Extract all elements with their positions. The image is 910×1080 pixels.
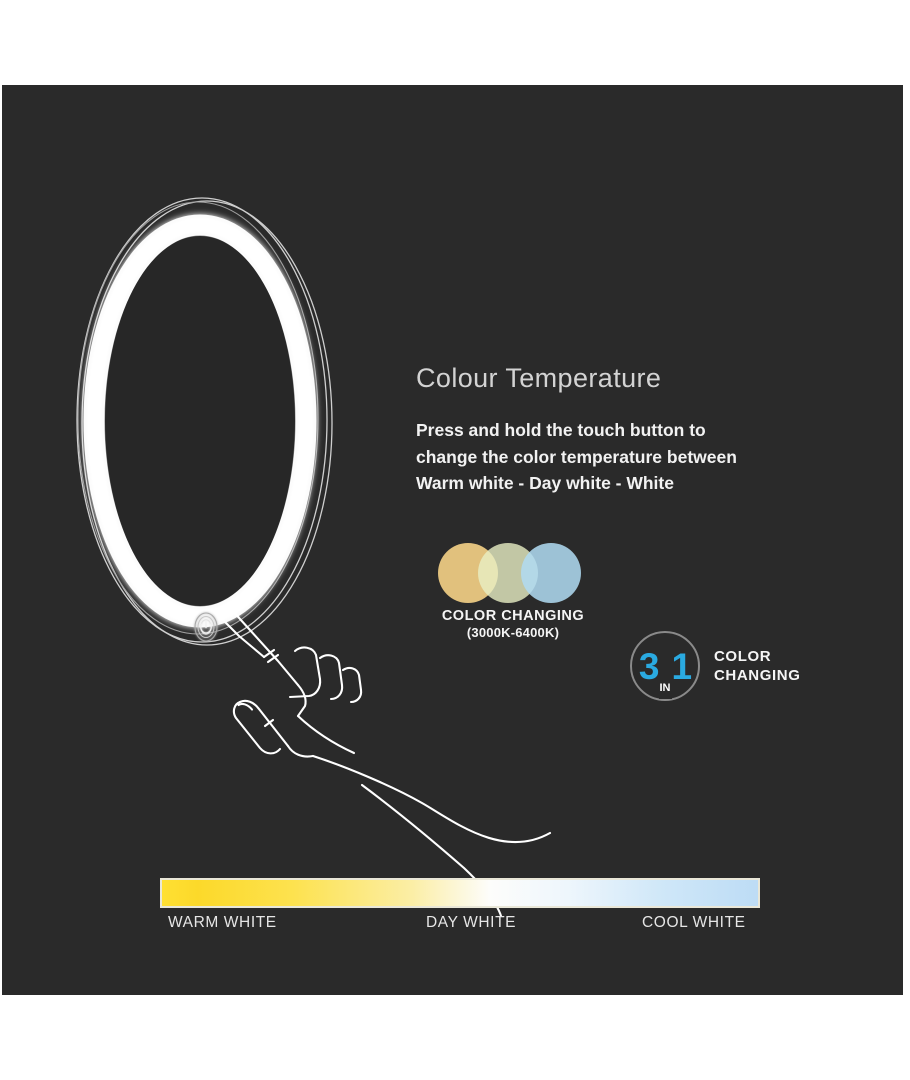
three-in-one-numeral-3: 3	[639, 648, 659, 685]
temperature-gradient-bar	[160, 878, 760, 908]
three-in-one-numeral-1: 1	[672, 648, 692, 685]
product-info-panel: Colour Temperature Press and hold the to…	[2, 85, 903, 995]
temp-label-cool-white: COOL WHITE	[642, 914, 746, 932]
text-block: Colour Temperature Press and hold the to…	[416, 362, 846, 496]
color-changing-label: COLOR CHANGING	[424, 608, 602, 625]
three-in-one-label: COLOR CHANGING	[714, 647, 800, 686]
kelvin-range-label: (3000K-6400K)	[424, 625, 602, 641]
description-line-2: change the color temperature between	[416, 447, 737, 467]
three-in-one-label-line-2: CHANGING	[714, 667, 800, 684]
three-in-one-ring-icon: 3 IN 1	[630, 631, 700, 701]
temp-label-day-white: DAY WHITE	[426, 914, 516, 932]
badges-row: COLOR CHANGING (3000K-6400K) 3 IN 1 COLO…	[416, 543, 846, 648]
three-in-one-label-line-1: COLOR	[714, 648, 771, 665]
description-line-1: Press and hold the touch button to	[416, 420, 706, 440]
venn-circle-cool-white-icon	[521, 543, 581, 603]
three-in-one-connector: IN	[659, 682, 672, 699]
temperature-strip: WARM WHITE DAY WHITE COOL WHITE	[160, 878, 760, 938]
description-text: Press and hold the touch button to chang…	[416, 417, 846, 496]
venn-circles	[424, 543, 602, 603]
description-line-3: Warm white - Day white - White	[416, 473, 674, 493]
temp-label-warm-white: WARM WHITE	[168, 914, 277, 932]
three-in-one-badge: 3 IN 1 COLOR CHANGING	[630, 631, 845, 701]
color-changing-badge: COLOR CHANGING (3000K-6400K)	[424, 543, 602, 641]
mirror-illustration	[2, 85, 903, 995]
three-in-one-glyph: 3 IN 1	[632, 633, 698, 699]
hand-pointing	[218, 609, 550, 916]
temperature-labels: WARM WHITE DAY WHITE COOL WHITE	[160, 914, 760, 938]
page-title: Colour Temperature	[416, 362, 846, 394]
screenshot-canvas: Colour Temperature Press and hold the to…	[0, 0, 910, 1080]
mirror-glass	[105, 236, 295, 606]
